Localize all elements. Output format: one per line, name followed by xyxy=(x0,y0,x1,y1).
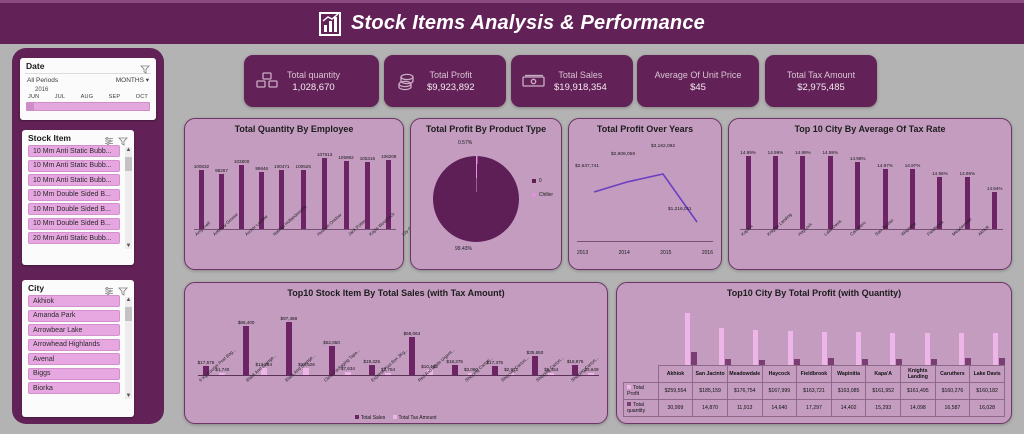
list-item[interactable]: 20 Mm Anti Static Bubb... xyxy=(28,232,120,244)
legend-swatch xyxy=(532,179,536,183)
bar-group[interactable] xyxy=(925,333,937,365)
month-label: OCT xyxy=(136,94,148,100)
table-cell: $160,276 xyxy=(935,383,970,400)
coins-icon xyxy=(394,70,420,92)
bar-group[interactable] xyxy=(719,328,731,365)
table-col-header: Kapa'A xyxy=(866,366,901,383)
bar-column[interactable]: 14.99% xyxy=(822,150,838,230)
bar[interactable] xyxy=(365,162,370,230)
data-label: 99646 xyxy=(255,166,268,171)
filter-icon[interactable] xyxy=(118,283,128,293)
scrollbar-thumb[interactable] xyxy=(125,157,132,171)
legend-item: Total Sales xyxy=(355,415,385,421)
kpi-value: $45 xyxy=(690,81,706,94)
list-item[interactable]: Akhiok xyxy=(28,295,120,307)
data-label: $1,216,011 xyxy=(668,207,692,212)
bar-total-profit[interactable] xyxy=(890,333,895,365)
table-cell: 14,402 xyxy=(831,400,866,417)
pie-graphic[interactable] xyxy=(433,156,519,242)
bar-column[interactable]: 14.99% xyxy=(740,150,756,230)
x-axis-labels: 2013 2014 2015 2016 xyxy=(577,250,713,256)
kpi-label: Total Sales xyxy=(558,69,602,81)
chart-top10-stock-item-by-total-sales[interactable]: Top10 Stock Item By Total Sales (with Ta… xyxy=(184,282,608,424)
scroll-down-icon[interactable]: ▼ xyxy=(126,243,132,249)
chart-title: Total Profit By Product Type xyxy=(411,119,561,134)
kpi-card-total-profit[interactable]: Total Profit $9,923,892 xyxy=(384,55,506,107)
chart-title: Top10 Stock Item By Total Sales (with Ta… xyxy=(185,283,607,298)
kpi-card-total-quantity[interactable]: Total quantity 1,028,670 xyxy=(244,55,379,107)
data-label: 98267 xyxy=(215,168,228,173)
kpi-label: Total Tax Amount xyxy=(787,69,855,81)
legend: 0 Chiller xyxy=(532,178,553,206)
table-header-row: AkhiokSan JacintoMeadowdaleHaycockFieldb… xyxy=(624,366,1005,383)
data-label: 103800 xyxy=(234,159,249,164)
bar[interactable] xyxy=(746,156,751,230)
chart-top10-city-by-total-profit[interactable]: Top10 City By Total Profit (with Quantit… xyxy=(616,282,1012,424)
data-label: $3,162,082 xyxy=(651,144,675,149)
kpi-card-total-tax-amount[interactable]: Total Tax Amount $2,975,485 xyxy=(765,55,877,107)
data-label: $2,908,058 xyxy=(611,152,635,157)
date-slicer-title: Date xyxy=(26,61,44,71)
x-tick: 2016 xyxy=(702,250,713,256)
table-col-header: Caruthers xyxy=(935,366,970,383)
data-label: $97,488 xyxy=(281,316,298,321)
x-tick: 2015 xyxy=(660,250,671,256)
chart-title: Top10 City By Total Profit (with Quantit… xyxy=(617,283,1011,298)
list-item[interactable]: 10 Mm Anti Static Bubb... xyxy=(28,174,120,186)
city-list[interactable]: Akhiok Amanda Park Arrowbear Lake Arrowh… xyxy=(22,295,134,401)
stock-item-slicer[interactable]: Stock Item 10 Mm Anti Static Bubb... 10 … xyxy=(22,130,134,265)
city-slicer-title: City xyxy=(28,283,44,293)
x-axis-labels: Amy TreflAnthony GrosseArcher LambleNath… xyxy=(194,230,397,268)
table-cell: $163,721 xyxy=(797,383,832,400)
bar[interactable] xyxy=(199,170,204,230)
table-cell: $259,554 xyxy=(658,383,693,400)
table-row[interactable]: Total Profit $259,554$185,159$176,754$16… xyxy=(624,383,1005,400)
data-label: 14.98% xyxy=(850,156,866,161)
dashboard-root: Stock Items Analysis & Performance Date … xyxy=(0,0,1024,434)
table-col-header: Lake Davis xyxy=(970,366,1005,383)
table-cell: 16,028 xyxy=(970,400,1005,417)
legend-item: Total Tax Amount xyxy=(393,415,436,421)
kpi-value: $19,918,354 xyxy=(554,81,607,94)
list-item[interactable]: Biorka xyxy=(28,382,120,394)
table-col-header: Knights Landing xyxy=(901,366,936,383)
bar-column[interactable]: 14.99% xyxy=(795,150,811,230)
kpi-label: Average Of Unit Price xyxy=(655,69,742,81)
legend-label: Chiller xyxy=(539,192,553,198)
chart-total-quantity-by-employee[interactable]: Total Quantity By Employee 1008329826710… xyxy=(184,118,404,270)
legend-swatch xyxy=(355,415,359,419)
x-tick: 2013 xyxy=(577,250,588,256)
bar-total-profit[interactable] xyxy=(822,332,827,365)
data-label: $2,637,741 xyxy=(575,164,599,169)
scrollbar-thumb[interactable] xyxy=(125,307,132,321)
month-label: JUN xyxy=(28,94,39,100)
bar-total-profit[interactable] xyxy=(685,313,690,365)
bar-group[interactable] xyxy=(993,333,1005,365)
table-cell: $176,754 xyxy=(727,383,762,400)
bar-total-profit[interactable] xyxy=(993,333,998,365)
bar[interactable] xyxy=(855,162,860,230)
legend-swatch xyxy=(532,193,536,197)
data-label: 14.96% xyxy=(960,171,976,176)
multi-select-icon[interactable] xyxy=(104,133,114,143)
table-cell: 14,870 xyxy=(693,400,728,417)
table-cell: 17,297 xyxy=(797,400,832,417)
chart-title: Total Quantity By Employee xyxy=(185,119,403,134)
bar-column[interactable]: 100832 xyxy=(194,150,209,230)
data-label: $17,575 xyxy=(198,360,215,365)
x-axis-labels: 9 Kg Courier Post Bag...Black And Orange… xyxy=(198,376,599,412)
bar-total-profit[interactable] xyxy=(753,330,758,365)
kpi-card-total-sales[interactable]: Total Sales $19,918,354 xyxy=(511,55,633,107)
stock-item-slicer-title: Stock Item xyxy=(28,133,71,143)
bar-group[interactable] xyxy=(788,331,800,365)
kpi-value: 1,028,670 xyxy=(292,81,334,94)
list-item[interactable]: 10 Mm Double Sided B... xyxy=(28,203,120,215)
legend-item: Chiller xyxy=(532,192,553,198)
table-cell: 14,098 xyxy=(901,400,936,417)
bar-group[interactable] xyxy=(822,332,834,365)
list-item[interactable]: 10 Mm Anti Static Bubb... xyxy=(28,145,120,157)
month-label: SEP xyxy=(109,94,121,100)
data-label: 14.99% xyxy=(822,150,838,155)
axis-line xyxy=(577,241,713,242)
bar[interactable] xyxy=(322,158,327,230)
pie-slice-label: 0.57% xyxy=(458,140,472,146)
data-label: 14.99% xyxy=(795,150,811,155)
table-col-header: Akhiok xyxy=(658,366,693,383)
stock-item-list[interactable]: 10 Mm Anti Static Bubb... 10 Mm Anti Sta… xyxy=(22,145,134,251)
chart-title: Top 10 City By Average Of Tax Rate xyxy=(729,119,1011,134)
bar[interactable] xyxy=(800,156,805,230)
data-label: 14.99% xyxy=(740,150,756,155)
legend-label: Total Tax Amount xyxy=(399,415,437,421)
app-header: Stock Items Analysis & Performance xyxy=(0,0,1024,44)
data-label: 14.97% xyxy=(877,163,893,168)
table-col-header: Meadowdale xyxy=(727,366,762,383)
date-range-slider[interactable] xyxy=(26,102,150,111)
boxes-stack-icon xyxy=(254,70,280,92)
table-cell: $185,159 xyxy=(693,383,728,400)
table-cell: $163,085 xyxy=(831,383,866,400)
table-cell: 14,640 xyxy=(762,400,797,417)
bar[interactable] xyxy=(773,156,778,230)
list-item[interactable]: Arrowhead Highlands xyxy=(28,339,120,351)
row-header-total-quantity: Total quantity xyxy=(624,400,659,417)
legend-label: Total Sales xyxy=(361,415,385,421)
kpi-label: Total Profit xyxy=(430,69,473,81)
bar-total-profit[interactable] xyxy=(719,328,724,365)
list-item[interactable]: 10 Mm Double Sided B... xyxy=(28,189,120,201)
list-item[interactable]: 10 Mm Anti Static Bubb... xyxy=(28,160,120,172)
list-item[interactable]: Biggs xyxy=(28,368,120,380)
table-cell: $161,952 xyxy=(866,383,901,400)
table-row[interactable]: Total quantity 30,99914,87011,91314,6401… xyxy=(624,400,1005,417)
banknotes-icon xyxy=(521,70,547,92)
bar-total-quantity[interactable] xyxy=(691,352,697,365)
data-label: $18,975 xyxy=(567,359,584,364)
bar-total-profit[interactable] xyxy=(788,331,793,365)
list-item[interactable]: Arrowbear Lake xyxy=(28,324,120,336)
city-slicer[interactable]: City Akhiok Amanda Park Arrowbear Lake A… xyxy=(22,280,134,417)
data-label: 105992 xyxy=(338,155,353,160)
filter-icon[interactable] xyxy=(140,61,150,71)
month-label: AUG xyxy=(81,94,94,100)
data-label: $52,650 xyxy=(323,340,340,345)
data-label: 100832 xyxy=(194,164,209,169)
data-label: 14.99% xyxy=(768,150,784,155)
line-graphic xyxy=(569,134,723,244)
scrollbar[interactable]: ▲ ▼ xyxy=(125,297,132,399)
table-col-header: Fieldbrook xyxy=(797,366,832,383)
kpi-label: Total quantity xyxy=(287,69,340,81)
table-cell: $160,182 xyxy=(970,383,1005,400)
data-label: $68,064 xyxy=(404,331,421,336)
data-label: 100471 xyxy=(274,164,289,169)
data-label: $86,400 xyxy=(238,320,255,325)
row-header-total-profit: Total Profit xyxy=(624,383,659,400)
chart-top10-city-by-average-tax-rate[interactable]: Top 10 City By Average Of Tax Rate 14.99… xyxy=(728,118,1012,270)
table-cell: 16,587 xyxy=(935,400,970,417)
data-label: 105316 xyxy=(360,156,375,161)
data-label: 14.94% xyxy=(987,186,1003,191)
bar-group[interactable] xyxy=(685,313,697,365)
legend-swatch xyxy=(393,415,397,419)
chart-plot-area xyxy=(685,301,1005,365)
month-label: JUL xyxy=(55,94,65,100)
table-cell: 11,913 xyxy=(727,400,762,417)
city-data-table[interactable]: AkhiokSan JacintoMeadowdaleHaycockFieldb… xyxy=(623,365,1005,417)
date-period-label: All Periods xyxy=(27,77,58,84)
chevron-down-icon: ▾ xyxy=(146,77,149,84)
bar-total-quantity[interactable] xyxy=(999,358,1005,365)
kpi-value: $2,975,485 xyxy=(797,81,845,94)
legend-item: 0 xyxy=(532,178,553,184)
bar-total-profit[interactable] xyxy=(925,333,930,365)
legend-label: 0 xyxy=(539,178,542,184)
scroll-down-icon[interactable]: ▼ xyxy=(126,393,132,399)
bar-group[interactable] xyxy=(753,330,765,365)
bar-total-profit[interactable] xyxy=(959,333,964,365)
list-item[interactable]: 10 Mm Double Sided B... xyxy=(28,218,120,230)
chart-title: Total Profit Over Years xyxy=(569,119,721,134)
table-cell: $167,999 xyxy=(762,383,797,400)
chart-total-profit-by-product-type[interactable]: Total Profit By Product Type 0.57% 99.43… xyxy=(410,118,562,270)
table-col-header: San Jacinto xyxy=(693,366,728,383)
chart-plot-area: 14.99%14.99%14.99%14.99%14.98%14.97%14.9… xyxy=(740,150,1002,230)
data-label: 14.96% xyxy=(932,171,948,176)
table-cell: 15,293 xyxy=(866,400,901,417)
chart-total-profit-over-years[interactable]: Total Profit Over Years $2,637,741 $2,90… xyxy=(568,118,722,270)
list-item[interactable]: Amanda Park xyxy=(28,310,120,322)
x-axis-labels: Kapa'AKnights LandingHaycockLake DavisCa… xyxy=(740,230,1002,268)
scrollbar[interactable]: ▲ ▼ xyxy=(125,147,132,249)
date-slicer[interactable]: Date All Periods MONTHS ▾ 2016 JUN JUL A… xyxy=(20,58,156,120)
bar-group[interactable] xyxy=(890,333,902,365)
multi-select-icon[interactable] xyxy=(104,283,114,293)
bar-group[interactable] xyxy=(959,333,971,365)
table-cell: 30,999 xyxy=(658,400,693,417)
table-corner xyxy=(624,366,659,383)
table-cell: $161,495 xyxy=(901,383,936,400)
bar[interactable] xyxy=(828,156,833,230)
date-month-labels: JUN JUL AUG SEP OCT xyxy=(20,93,156,100)
bar-chart-icon xyxy=(319,12,341,36)
table-col-header: Haycock xyxy=(762,366,797,383)
data-label: 106208 xyxy=(381,154,396,159)
kpi-card-average-unit-price[interactable]: Average Of Unit Price $45 xyxy=(637,55,759,107)
bar-column[interactable]: 98267 xyxy=(215,150,228,230)
date-granularity[interactable]: MONTHS ▾ xyxy=(116,76,149,84)
data-label: $35,650 xyxy=(527,350,544,355)
bar-column[interactable]: 14.98% xyxy=(850,150,866,230)
kpi-value: $9,923,892 xyxy=(427,81,475,94)
scroll-up-icon[interactable]: ▲ xyxy=(126,297,132,303)
pie-slice-label: 99.43% xyxy=(455,246,472,252)
data-label: 107613 xyxy=(317,152,332,157)
bar-column[interactable]: 107613 xyxy=(317,150,332,230)
table-col-header: Wapinitia xyxy=(831,366,866,383)
scroll-up-icon[interactable]: ▲ xyxy=(126,147,132,153)
data-label: 100525 xyxy=(296,164,311,169)
x-tick: 2014 xyxy=(619,250,630,256)
bar-total-quantity[interactable] xyxy=(965,358,971,365)
data-label: 14.97% xyxy=(905,163,921,168)
bar-group[interactable] xyxy=(856,332,868,365)
bar-total-profit[interactable] xyxy=(856,332,861,365)
page-title: Stock Items Analysis & Performance xyxy=(351,12,705,35)
legend: Total Sales Total Tax Amount xyxy=(185,415,607,421)
bar-total-quantity[interactable] xyxy=(828,358,834,365)
filter-icon[interactable] xyxy=(118,133,128,143)
list-item[interactable]: Avenal xyxy=(28,353,120,365)
